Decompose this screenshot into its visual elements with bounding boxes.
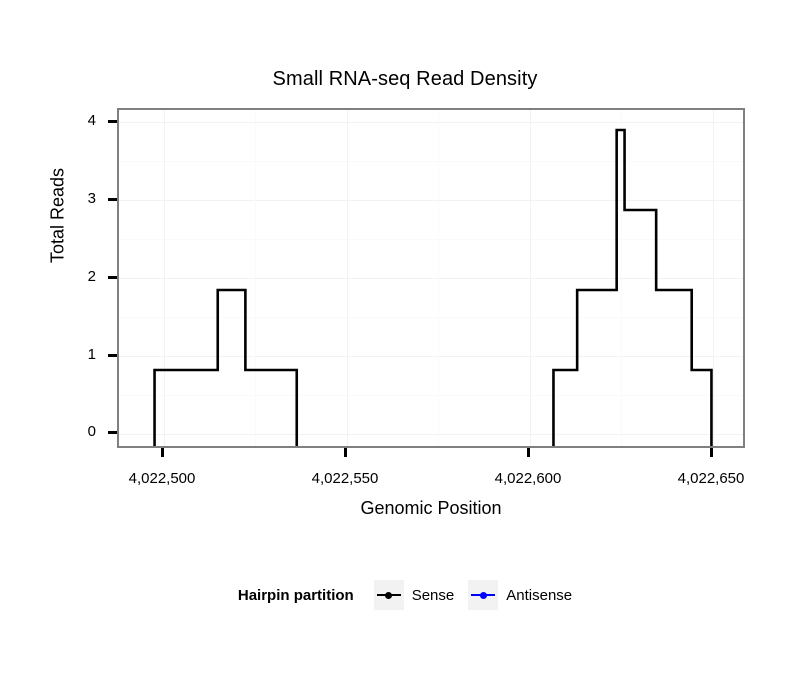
y-tick-mark-0 (108, 431, 117, 434)
chart-figure: Small RNA-seq Read Density Total Reads 4… (0, 0, 810, 690)
x-axis-label: Genomic Position (117, 498, 745, 519)
x-tick-label-4022650: 4,022,650 (631, 470, 791, 487)
legend: Hairpin partition Sense Antisense (0, 580, 810, 610)
page-title: Small RNA-seq Read Density (0, 68, 810, 91)
y-tick-label-1: 1 (56, 348, 96, 362)
y-tick-label-0: 0 (56, 425, 96, 439)
y-tick-label-3: 3 (56, 192, 96, 206)
y-tick-mark-4 (108, 120, 117, 123)
legend-label-sense: Sense (412, 587, 455, 604)
y-tick-label-2: 2 (56, 270, 96, 284)
legend-item-sense[interactable]: Sense (374, 580, 455, 610)
series-line-sense (119, 130, 745, 448)
legend-title: Hairpin partition (238, 587, 354, 604)
y-tick-mark-3 (108, 198, 117, 201)
x-tick-label-4022500: 4,022,500 (82, 470, 242, 487)
legend-item-antisense[interactable]: Antisense (468, 580, 572, 610)
y-tick-mark-1 (108, 354, 117, 357)
legend-label-antisense: Antisense (506, 587, 572, 604)
panel-background (119, 110, 743, 446)
series-layer (119, 110, 745, 448)
x-tick-label-4022550: 4,022,550 (265, 470, 425, 487)
y-tick-mark-2 (108, 276, 117, 279)
x-tick-mark-4022650 (710, 448, 713, 457)
y-axis-label: Total Reads (48, 106, 69, 326)
plot-panel (117, 108, 745, 448)
y-tick-label-4: 4 (56, 114, 96, 128)
x-tick-mark-4022600 (527, 448, 530, 457)
x-tick-label-4022600: 4,022,600 (448, 470, 608, 487)
line-point-key-icon-antisense (468, 580, 498, 610)
x-tick-mark-4022550 (344, 448, 347, 457)
x-tick-mark-4022500 (161, 448, 164, 457)
line-point-key-icon-sense (374, 580, 404, 610)
